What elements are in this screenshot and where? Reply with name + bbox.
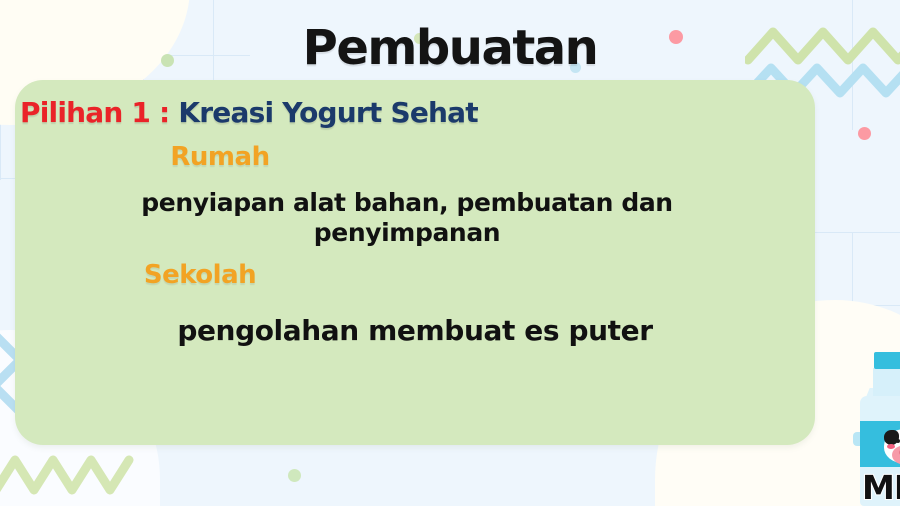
section-text-sekolah: pengolahan membuat es puter bbox=[15, 314, 815, 347]
option-heading: Pilihan 1 : Kreasi Yogurt Sehat bbox=[20, 96, 478, 129]
option-separator: : bbox=[150, 96, 178, 129]
page-title: Pembuatan bbox=[0, 20, 900, 76]
milk-bottle-illustration: MI bbox=[852, 352, 900, 506]
milk-bottle-label bbox=[860, 421, 900, 467]
milk-bottle-cap bbox=[874, 352, 900, 369]
section-heading-rumah: Rumah bbox=[0, 142, 620, 172]
cow-face-icon bbox=[880, 425, 900, 469]
section-heading-sekolah: Sekolah bbox=[0, 260, 600, 290]
option-label: Pilihan 1 bbox=[20, 96, 150, 129]
cow-eye bbox=[896, 439, 900, 443]
milk-bottle-wordmark: MI bbox=[862, 468, 900, 506]
slide-canvas: Pembuatan Pilihan 1 : Kreasi Yogurt Seha… bbox=[0, 0, 900, 506]
dot-pink-right-icon bbox=[858, 127, 871, 140]
content-card: Pilihan 1 : Kreasi Yogurt Sehat Rumah pe… bbox=[15, 80, 815, 445]
section-text-rumah: penyiapan alat bahan, pembuatan dan peny… bbox=[7, 188, 807, 247]
dot-green-bottom-icon bbox=[288, 469, 301, 482]
zigzag-green-bottom-left-icon bbox=[0, 448, 152, 498]
option-value: Kreasi Yogurt Sehat bbox=[178, 96, 477, 129]
